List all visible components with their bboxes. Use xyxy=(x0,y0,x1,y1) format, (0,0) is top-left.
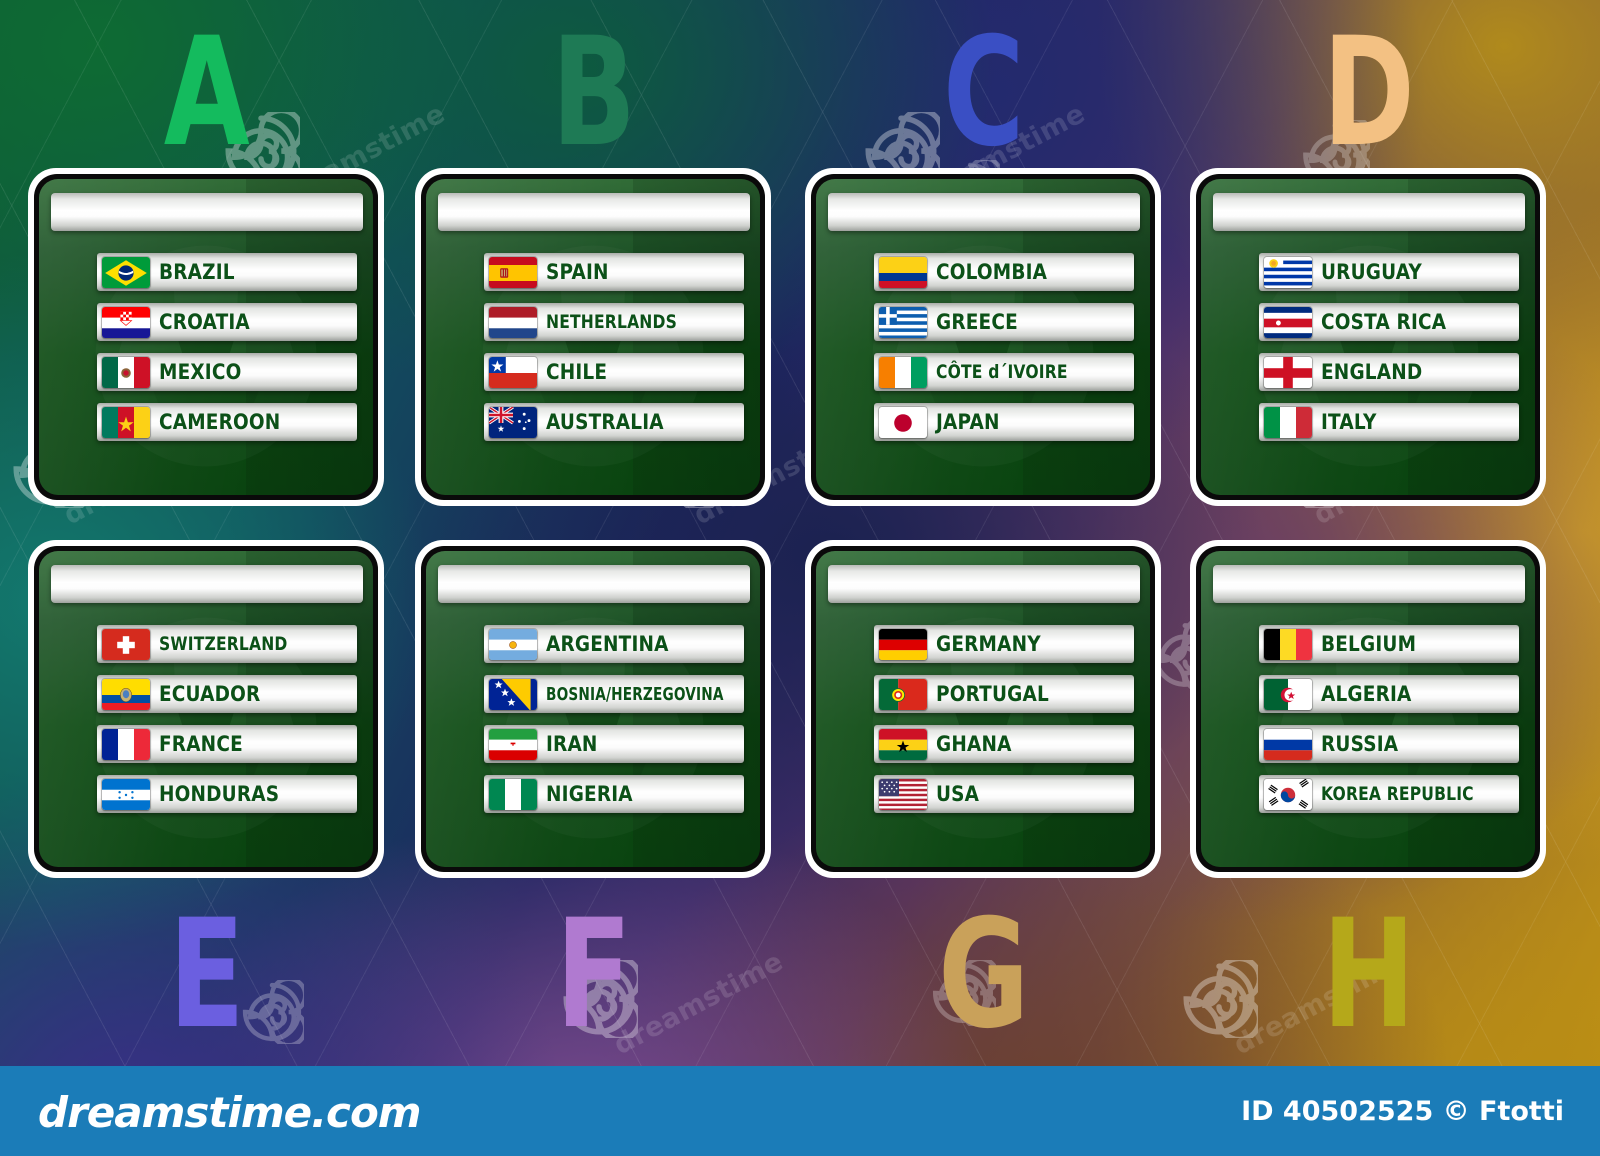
flag-icon-nigeria xyxy=(489,779,537,810)
team-name: NETHERLANDS xyxy=(546,311,677,333)
team-name: COSTA RICA xyxy=(1321,310,1446,334)
team-row[interactable]: IRAN xyxy=(484,725,744,763)
team-name: CÔTE d´IVOIRE xyxy=(936,361,1068,383)
flag-icon-france xyxy=(102,729,150,760)
team-name: ENGLAND xyxy=(1321,360,1422,384)
card-panel: COLOMBIAGREECECÔTE d´IVOIREJAPAN xyxy=(816,179,1150,495)
team-row[interactable]: COLOMBIA xyxy=(874,253,1134,291)
flag-icon-england xyxy=(1264,357,1312,388)
group-card-f[interactable]: ARGENTINABOSNIA/HERZEGOVINAIRANNIGERIA xyxy=(415,540,771,878)
team-row[interactable]: MEXICO xyxy=(97,353,357,391)
team-row[interactable]: USA xyxy=(874,775,1134,813)
team-row[interactable]: CÔTE d´IVOIRE xyxy=(874,353,1134,391)
team-name: BRAZIL xyxy=(159,260,235,284)
card-header-bar xyxy=(1213,193,1525,231)
team-row[interactable]: NETHERLANDS xyxy=(484,303,744,341)
flag-icon-russia xyxy=(1264,729,1312,760)
group-card-h[interactable]: BELGIUMALGERIARUSSIAKOREA REPUBLIC xyxy=(1190,540,1546,878)
team-list: BELGIUMALGERIARUSSIAKOREA REPUBLIC xyxy=(1201,625,1535,825)
team-name: GREECE xyxy=(936,310,1018,334)
team-name: SWITZERLAND xyxy=(159,633,288,655)
card-inner-border: BELGIUMALGERIARUSSIAKOREA REPUBLIC xyxy=(1196,546,1540,872)
flag-icon-colombia xyxy=(879,257,927,288)
team-row[interactable]: KOREA REPUBLIC xyxy=(1259,775,1519,813)
team-list: SWITZERLANDECUADORFRANCEHONDURAS xyxy=(39,625,373,825)
group-card-e[interactable]: SWITZERLANDECUADORFRANCEHONDURAS xyxy=(28,540,384,878)
card-panel: ARGENTINABOSNIA/HERZEGOVINAIRANNIGERIA xyxy=(426,551,760,867)
team-row[interactable]: CROATIA xyxy=(97,303,357,341)
card-header-bar xyxy=(828,565,1140,603)
flag-icon-brazil xyxy=(102,257,150,288)
team-row[interactable]: AUSTRALIA xyxy=(484,403,744,441)
team-name: BOSNIA/HERZEGOVINA xyxy=(546,684,724,705)
team-row[interactable]: NIGERIA xyxy=(484,775,744,813)
team-name: HONDURAS xyxy=(159,782,279,806)
flag-icon-portugal xyxy=(879,679,927,710)
team-name: BELGIUM xyxy=(1321,632,1416,656)
flag-icon-cameroon xyxy=(102,407,150,438)
team-name: IRAN xyxy=(546,732,598,756)
card-header-bar xyxy=(438,565,750,603)
team-name: GHANA xyxy=(936,732,1012,756)
team-row[interactable]: CHILE xyxy=(484,353,744,391)
flag-icon-germany xyxy=(879,629,927,660)
team-name: CHILE xyxy=(546,360,607,384)
dreamstime-logo: dreamstime.com xyxy=(38,1088,421,1137)
team-list: ARGENTINABOSNIA/HERZEGOVINAIRANNIGERIA xyxy=(426,625,760,825)
team-row[interactable]: BOSNIA/HERZEGOVINA xyxy=(484,675,744,713)
team-name: KOREA REPUBLIC xyxy=(1321,783,1474,805)
team-list: URUGUAYCOSTA RICAENGLANDITALY xyxy=(1201,253,1535,453)
flag-icon-bosnia xyxy=(489,679,537,710)
team-row[interactable]: ARGENTINA xyxy=(484,625,744,663)
team-name: NIGERIA xyxy=(546,782,633,806)
image-id-credit: ID 40502525 © Ftotti xyxy=(1241,1096,1564,1127)
group-card-g[interactable]: GERMANYPORTUGALGHANAUSA xyxy=(805,540,1161,878)
team-name: AUSTRALIA xyxy=(546,410,664,434)
flag-icon-honduras xyxy=(102,779,150,810)
card-panel: SWITZERLANDECUADORFRANCEHONDURAS xyxy=(39,551,373,867)
team-name: SPAIN xyxy=(546,260,609,284)
flag-icon-croatia xyxy=(102,307,150,338)
card-header-bar xyxy=(51,565,363,603)
card-panel: BELGIUMALGERIARUSSIAKOREA REPUBLIC xyxy=(1201,551,1535,867)
group-letter-f: F xyxy=(519,900,667,1050)
group-letter-c: C xyxy=(909,18,1057,168)
flag-icon-belgium xyxy=(1264,629,1312,660)
flag-icon-ecuador xyxy=(102,679,150,710)
card-header-bar xyxy=(828,193,1140,231)
team-row[interactable]: SWITZERLAND xyxy=(97,625,357,663)
group-card-c[interactable]: COLOMBIAGREECECÔTE d´IVOIREJAPAN xyxy=(805,168,1161,506)
group-letter-e: E xyxy=(132,900,280,1050)
card-header-bar xyxy=(1213,565,1525,603)
footer-bar: dreamstime.com ID 40502525 © Ftotti xyxy=(0,1066,1600,1156)
card-panel: SPAINNETHERLANDSCHILEAUSTRALIA xyxy=(426,179,760,495)
group-letter-b: B xyxy=(519,18,667,168)
flag-icon-ivorycoast xyxy=(879,357,927,388)
team-row[interactable]: RUSSIA xyxy=(1259,725,1519,763)
card-inner-border: URUGUAYCOSTA RICAENGLANDITALY xyxy=(1196,174,1540,500)
team-row[interactable]: SPAIN xyxy=(484,253,744,291)
card-panel: GERMANYPORTUGALGHANAUSA xyxy=(816,551,1150,867)
flag-icon-costarica xyxy=(1264,307,1312,338)
flag-icon-southkorea xyxy=(1264,779,1312,810)
flag-icon-iran xyxy=(489,729,537,760)
flag-icon-usa xyxy=(879,779,927,810)
card-inner-border: COLOMBIAGREECECÔTE d´IVOIREJAPAN xyxy=(811,174,1155,500)
team-name: ECUADOR xyxy=(159,682,260,706)
team-name: USA xyxy=(936,782,979,806)
flag-icon-chile xyxy=(489,357,537,388)
card-inner-border: ARGENTINABOSNIA/HERZEGOVINAIRANNIGERIA xyxy=(421,546,765,872)
team-name: CAMEROON xyxy=(159,410,280,434)
team-name: JAPAN xyxy=(936,410,1000,434)
team-row[interactable]: HONDURAS xyxy=(97,775,357,813)
team-row[interactable]: JAPAN xyxy=(874,403,1134,441)
team-row[interactable]: GREECE xyxy=(874,303,1134,341)
flag-icon-algeria xyxy=(1264,679,1312,710)
group-card-b[interactable]: SPAINNETHERLANDSCHILEAUSTRALIA xyxy=(415,168,771,506)
group-letter-a: A xyxy=(132,18,280,168)
flag-icon-argentina xyxy=(489,629,537,660)
group-letter-h: H xyxy=(1294,900,1442,1050)
group-letter-g: G xyxy=(909,900,1057,1050)
team-name: COLOMBIA xyxy=(936,260,1047,284)
team-name: GERMANY xyxy=(936,632,1041,656)
team-row[interactable]: GHANA xyxy=(874,725,1134,763)
team-list: BRAZILCROATIAMEXICOCAMEROON xyxy=(39,253,373,453)
poster-root: dreamstime dreamstime dreamstime dreamst… xyxy=(0,0,1600,1156)
team-list: SPAINNETHERLANDSCHILEAUSTRALIA xyxy=(426,253,760,453)
team-row[interactable]: ALGERIA xyxy=(1259,675,1519,713)
team-list: GERMANYPORTUGALGHANAUSA xyxy=(816,625,1150,825)
team-row[interactable]: BRAZIL xyxy=(97,253,357,291)
team-row[interactable]: ENGLAND xyxy=(1259,353,1519,391)
team-row[interactable]: COSTA RICA xyxy=(1259,303,1519,341)
team-row[interactable]: URUGUAY xyxy=(1259,253,1519,291)
flag-icon-uruguay xyxy=(1264,257,1312,288)
card-header-bar xyxy=(438,193,750,231)
team-row[interactable]: FRANCE xyxy=(97,725,357,763)
team-row[interactable]: ECUADOR xyxy=(97,675,357,713)
card-inner-border: SPAINNETHERLANDSCHILEAUSTRALIA xyxy=(421,174,765,500)
team-list: COLOMBIAGREECECÔTE d´IVOIREJAPAN xyxy=(816,253,1150,453)
team-name: CROATIA xyxy=(159,310,250,334)
team-name: FRANCE xyxy=(159,732,243,756)
team-row[interactable]: GERMANY xyxy=(874,625,1134,663)
group-letter-d: D xyxy=(1294,18,1442,168)
team-row[interactable]: ITALY xyxy=(1259,403,1519,441)
flag-icon-japan xyxy=(879,407,927,438)
card-inner-border: SWITZERLANDECUADORFRANCEHONDURAS xyxy=(34,546,378,872)
flag-icon-ghana xyxy=(879,729,927,760)
group-card-d[interactable]: URUGUAYCOSTA RICAENGLANDITALY xyxy=(1190,168,1546,506)
flag-icon-switzerland xyxy=(102,629,150,660)
team-name: ALGERIA xyxy=(1321,682,1412,706)
team-name: RUSSIA xyxy=(1321,732,1398,756)
card-inner-border: BRAZILCROATIAMEXICOCAMEROON xyxy=(34,174,378,500)
team-row[interactable]: CAMEROON xyxy=(97,403,357,441)
card-inner-border: GERMANYPORTUGALGHANAUSA xyxy=(811,546,1155,872)
flag-icon-greece xyxy=(879,307,927,338)
card-panel: URUGUAYCOSTA RICAENGLANDITALY xyxy=(1201,179,1535,495)
team-name: ITALY xyxy=(1321,410,1377,434)
flag-icon-netherlands xyxy=(489,307,537,338)
team-name: URUGUAY xyxy=(1321,260,1422,284)
team-name: MEXICO xyxy=(159,360,241,384)
flag-icon-italy xyxy=(1264,407,1312,438)
team-name: ARGENTINA xyxy=(546,632,669,656)
card-header-bar xyxy=(51,193,363,231)
team-row[interactable]: PORTUGAL xyxy=(874,675,1134,713)
flag-icon-spain xyxy=(489,257,537,288)
flag-icon-mexico xyxy=(102,357,150,388)
group-card-a[interactable]: BRAZILCROATIAMEXICOCAMEROON xyxy=(28,168,384,506)
team-name: PORTUGAL xyxy=(936,682,1049,706)
card-panel: BRAZILCROATIAMEXICOCAMEROON xyxy=(39,179,373,495)
flag-icon-australia xyxy=(489,407,537,438)
team-row[interactable]: BELGIUM xyxy=(1259,625,1519,663)
